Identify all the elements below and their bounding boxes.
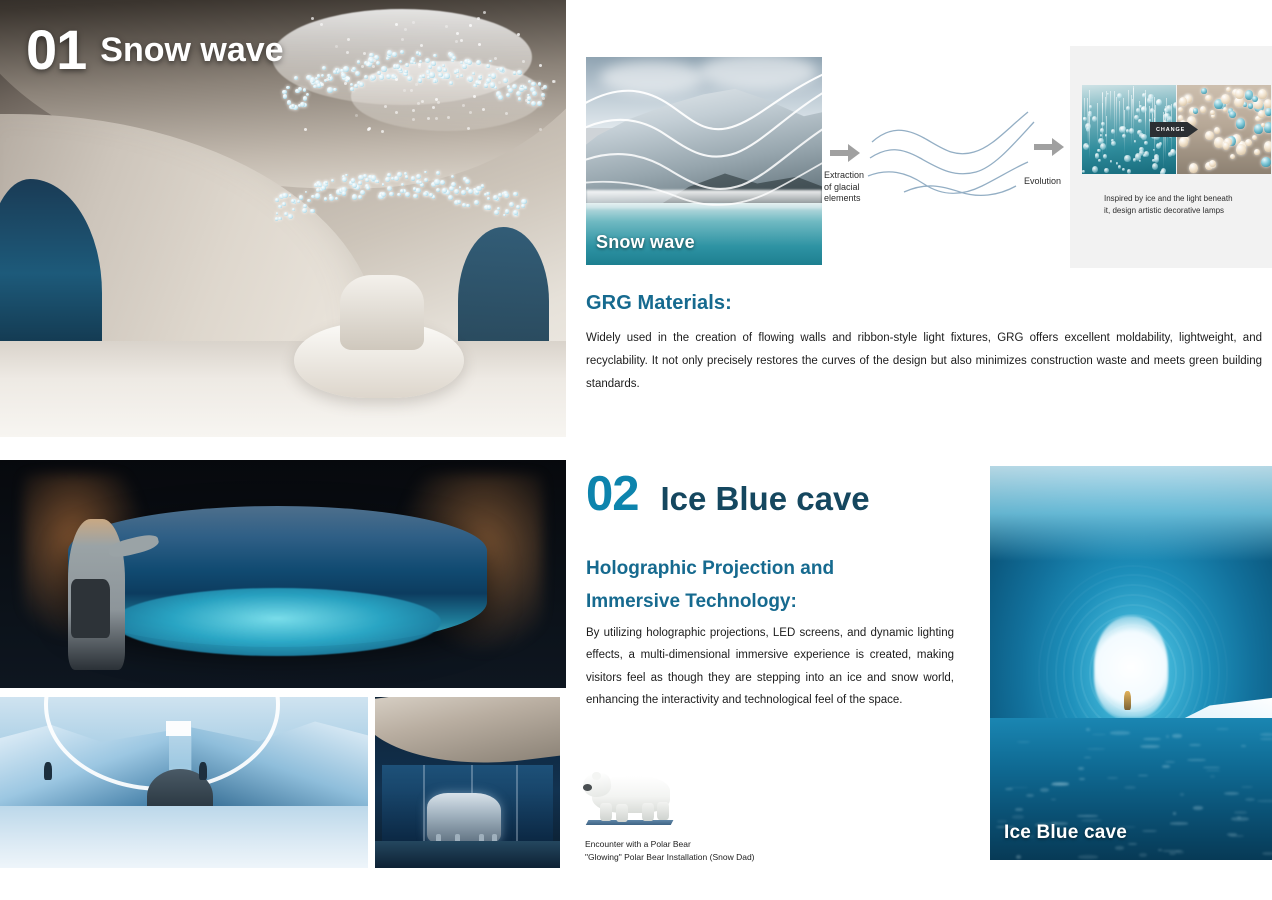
bear-snout <box>583 784 592 791</box>
bear-leg-mid <box>616 804 628 822</box>
polar-bear-cutout-image <box>585 766 677 826</box>
crystal-leopard-sculpture-image <box>375 697 560 868</box>
skier-figure-right <box>199 762 207 780</box>
change-badge-label: CHANGE <box>1150 127 1185 133</box>
section-two-title: 02 Ice Blue cave <box>586 470 870 519</box>
ice-cave-ceiling <box>990 466 1272 561</box>
bear-leg-front <box>600 803 612 821</box>
hero-pod <box>340 275 425 349</box>
hero-floor <box>0 341 566 437</box>
grg-body: Widely used in the creation of flowing w… <box>586 327 1262 396</box>
flow-left-label: Extraction of glacial elements <box>824 170 864 205</box>
snow-wave-thumb-caption: Snow wave <box>596 232 695 253</box>
flow-right-label: Evolution <box>1024 176 1061 188</box>
evolution-flow-diagram: Extraction of glacial elements Evolution <box>828 100 1068 210</box>
bubble-chandelier-lower <box>272 175 522 235</box>
reflective-floor <box>0 806 368 868</box>
ice-cave-caption: Ice Blue cave <box>1004 822 1127 844</box>
section-two-subtitle: Holographic Projection and Immersive Tec… <box>586 552 986 619</box>
arrow-right-icon-right <box>1034 138 1064 156</box>
visitor-backpack <box>71 579 111 638</box>
ceiling-logo <box>166 721 192 736</box>
skier-figure-left <box>44 762 52 780</box>
bear-leg-rear <box>642 803 654 821</box>
bubble-chandelier-upper <box>283 57 543 127</box>
cave-exit-light <box>1094 616 1167 718</box>
polar-bear-caption: Encounter with a Polar Bear "Glowing" Po… <box>585 838 875 864</box>
lamp-panel-caption: Inspired by ice and the light beneath it… <box>1104 193 1264 216</box>
bear-ear <box>592 772 600 780</box>
ice-cave-image: Ice Blue cave <box>990 466 1272 860</box>
floor-projection <box>113 588 441 656</box>
glass-mullion-1 <box>423 765 425 844</box>
section-one-number: 01 <box>26 22 86 78</box>
section-one-heading: Snow wave <box>100 33 283 67</box>
section-two-number: 02 <box>586 470 639 519</box>
immersive-dome-image <box>0 460 566 688</box>
arrow-right-icon-left <box>830 144 860 162</box>
bear-leg-rear-2 <box>657 802 669 820</box>
section-one-title: 01 Snow wave <box>26 22 284 78</box>
section-two-heading: Ice Blue cave <box>661 482 870 515</box>
bear-base-platform <box>585 820 672 825</box>
grg-heading: GRG Materials: <box>586 292 1262 315</box>
section-two-body: By utilizing holographic projections, LE… <box>586 622 954 712</box>
presentation-board: 01 Snow wave Snow wave <box>0 0 1272 900</box>
snow-dome-interior-image <box>0 697 368 868</box>
leopard-floor <box>375 841 560 868</box>
hero-image-snow-wave-interior: 01 Snow wave <box>0 0 566 437</box>
glass-mullion-3 <box>516 765 518 844</box>
grg-materials-block: GRG Materials: Widely used in the creati… <box>586 292 1262 396</box>
cave-visitor-figure <box>1124 691 1131 711</box>
snow-wave-reference-image: Snow wave <box>586 57 822 265</box>
